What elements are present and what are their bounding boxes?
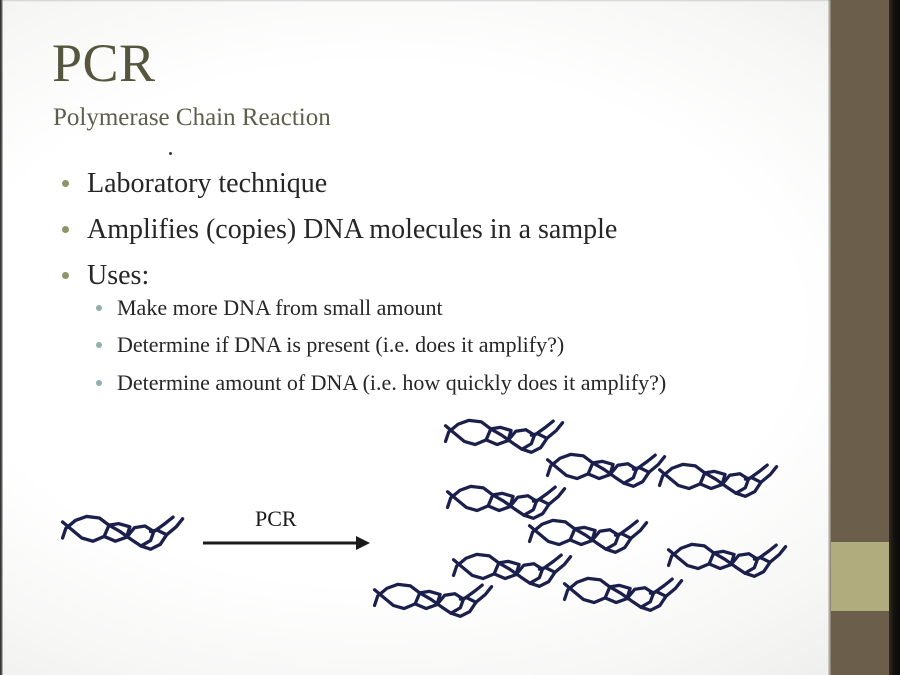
bullet-label: Laboratory technique [87, 164, 327, 204]
subbullet-label: Determine amount of DNA (i.e. how quickl… [117, 367, 666, 398]
list-item: Uses: [62, 256, 802, 296]
stray-dot-artifact [169, 152, 172, 155]
subbullet-label: Determine if DNA is present (i.e. does i… [117, 329, 564, 360]
bullet-list: Laboratory technique Amplifies (copies) … [62, 164, 802, 301]
bullet-label: Uses: [87, 256, 149, 296]
subbullet-list: Make more DNA from small amount Determin… [96, 292, 816, 404]
arrow-label: PCR [255, 506, 297, 532]
list-item: Amplifies (copies) DNA molecules in a sa… [62, 210, 802, 250]
subbullet-marker-icon [96, 380, 102, 386]
sidebar-band-olive-accent [831, 542, 889, 611]
list-item: Laboratory technique [62, 164, 802, 204]
page-subtitle: Polymerase Chain Reaction [53, 105, 331, 130]
list-item: Determine if DNA is present (i.e. does i… [96, 329, 816, 360]
slide-left-edge [0, 0, 3, 675]
list-item: Determine amount of DNA (i.e. how quickl… [96, 367, 816, 398]
subbullet-marker-icon [96, 305, 102, 311]
bullet-label: Amplifies (copies) DNA molecules in a sa… [87, 210, 617, 250]
list-item: Make more DNA from small amount [96, 292, 816, 323]
bullet-marker-icon [62, 272, 69, 279]
bullet-marker-icon [62, 180, 69, 187]
page-title: PCR [52, 36, 156, 90]
bullet-marker-icon [62, 226, 69, 233]
sidebar-band-dark-edge [889, 0, 900, 675]
slide-top-edge [0, 0, 900, 2]
subbullet-label: Make more DNA from small amount [117, 292, 443, 323]
slide-canvas: PCR Polymerase Chain Reaction Laboratory… [0, 0, 900, 675]
subbullet-marker-icon [96, 342, 102, 348]
